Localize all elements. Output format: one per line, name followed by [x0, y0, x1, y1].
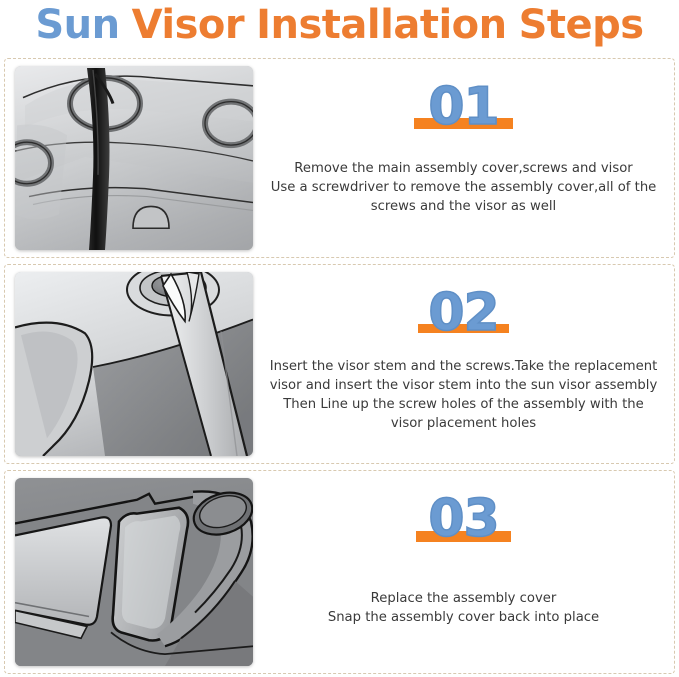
title-word-sun: Sun [35, 5, 119, 45]
step-photo-03 [15, 478, 253, 666]
title-word-steps: Steps [519, 5, 644, 45]
step-image-wrapper-02 [5, 265, 253, 463]
step-description-03: Replace the assembly cover Snap the asse… [267, 589, 660, 627]
step-panel-02: 02 Insert the visor stem and the screws.… [4, 264, 675, 464]
title-word-installation: Installation [256, 5, 506, 45]
step-content-03: 03 Replace the assembly cover Snap the a… [253, 471, 674, 673]
step-panel-01: 01 Remove the main assembly cover,screws… [4, 58, 675, 258]
step-content-01: 01 Remove the main assembly cover,screws… [253, 59, 674, 257]
visor-stem-insertion-illustration [15, 272, 253, 456]
step-photo-01 [15, 66, 253, 250]
step-panel-03: 03 Replace the assembly cover Snap the a… [4, 470, 675, 674]
step-description-01: Remove the main assembly cover,screws an… [267, 159, 660, 216]
assembly-cover-replaced-illustration [15, 478, 253, 666]
step-description-02: Insert the visor stem and the screws.Tak… [267, 357, 660, 434]
step-number-badge-01: 01 [426, 81, 500, 133]
step-number-02: 02 [428, 287, 498, 339]
step-number-01: 01 [428, 81, 498, 133]
step-number-badge-02: 02 [426, 287, 500, 339]
step-number-badge-03: 03 [426, 493, 500, 545]
title-word-visor: Visor [132, 5, 244, 45]
step-image-wrapper-03 [5, 471, 253, 673]
step-photo-02 [15, 272, 253, 456]
page-title: SunVisorInstallationSteps [0, 0, 679, 50]
step-image-wrapper-01 [5, 59, 253, 257]
visor-cover-screwdriver-illustration [15, 66, 253, 250]
sun-visor-installation-infographic: SunVisorInstallationSteps [0, 0, 679, 677]
step-number-03: 03 [428, 493, 498, 545]
step-content-02: 02 Insert the visor stem and the screws.… [253, 265, 674, 463]
